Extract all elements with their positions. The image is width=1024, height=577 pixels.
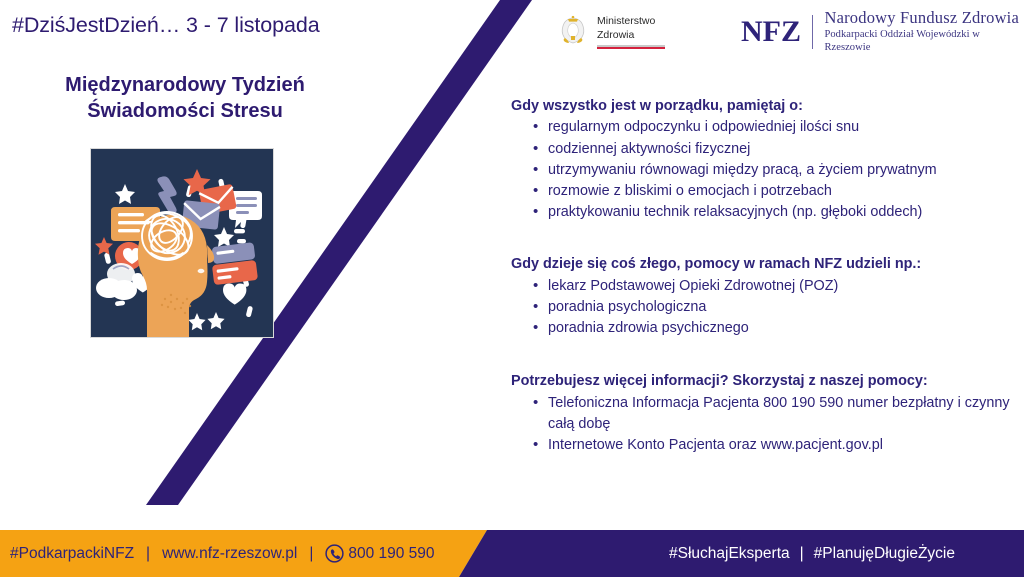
phone-circle-icon xyxy=(325,544,344,563)
footer-separator-3: | xyxy=(800,545,804,563)
polish-eagle-emblem xyxy=(556,14,590,50)
content-block-1: Gdy wszystko jest w porządku, pamiętaj o… xyxy=(511,96,1011,223)
footer-hashtag: #PodkarpackiNFZ xyxy=(10,545,134,563)
list-item: Internetowe Konto Pacjenta oraz www.pacj… xyxy=(533,435,1011,456)
nfz-logo-line-1: Narodowy Fundusz Zdrowia xyxy=(824,9,1024,28)
stressed-head-illustration xyxy=(90,148,274,338)
footer-website-link[interactable]: www.nfz-rzeszow.pl xyxy=(162,545,297,563)
footer-separator-2: | xyxy=(309,545,313,563)
footer-phone-group[interactable]: 800 190 590 xyxy=(325,544,434,563)
list-item: poradnia zdrowia psychicznego xyxy=(533,318,1011,339)
nfz-logo: NFZ Narodowy Fundusz Zdrowia Podkarpacki… xyxy=(741,9,1024,55)
event-title-line-1: Międzynarodowy Tydzień xyxy=(10,72,360,98)
main-content: Gdy wszystko jest w porządku, pamiętaj o… xyxy=(511,96,1011,472)
footer-phone-number: 800 190 590 xyxy=(348,545,434,563)
list-item: rozmowie z bliskimi o emocjach i potrzeb… xyxy=(533,181,1011,202)
footer-hashtag-planuje-dlugie-zycie: #PlanujęDługieŻycie xyxy=(814,545,955,563)
content-block-2: Gdy dzieje się coś złego, pomocy w ramac… xyxy=(511,254,1011,339)
list-item: codziennej aktywności fizycznej xyxy=(533,139,1011,160)
block-2-heading: Gdy dzieje się coś złego, pomocy w ramac… xyxy=(511,254,1011,274)
event-title-line-2: Świadomości Stresu xyxy=(10,98,360,124)
list-item: Telefoniczna Informacja Pacjenta 800 190… xyxy=(533,393,1011,435)
footer-separator-1: | xyxy=(146,545,150,563)
list-item: praktykowaniu technik relaksacyjnych (np… xyxy=(533,202,1011,223)
polish-flag-bar xyxy=(597,45,665,49)
block-2-list: lekarz Podstawowej Opieki Zdrowotnej (PO… xyxy=(511,276,1011,340)
ministry-of-health-logo: Ministerstwo Zdrowia xyxy=(556,14,665,50)
nfz-logo-line-2: Podkarpacki Oddział Wojewódzki w Rzeszow… xyxy=(824,28,1024,55)
list-item: regularnym odpoczynku i odpowiedniej ilo… xyxy=(533,117,1011,138)
list-item: poradnia psychologiczna xyxy=(533,297,1011,318)
nfz-wordmark: NFZ xyxy=(741,17,801,47)
block-3-heading: Potrzebujesz więcej informacji? Skorzyst… xyxy=(511,371,1011,391)
footer-right-group: #SłuchajEksperta | #PlanujęDługieŻycie xyxy=(600,530,1024,577)
logo-bar: Ministerstwo Zdrowia NFZ Narodowy Fundus… xyxy=(556,10,1024,54)
footer-left-group: #PodkarpackiNFZ | www.nfz-rzeszow.pl | 8… xyxy=(10,530,435,577)
block-3-list: Telefoniczna Informacja Pacjenta 800 190… xyxy=(511,393,1011,457)
ministry-logo-line-2: Zdrowia xyxy=(597,29,665,42)
list-item: lekarz Podstawowej Opieki Zdrowotnej (PO… xyxy=(533,276,1011,297)
hashtag-date-label: #DziśJestDzień… 3 - 7 listopada xyxy=(12,13,320,38)
nfz-logo-divider xyxy=(812,15,813,49)
slide-canvas: #DziśJestDzień… 3 - 7 listopada Międzyna… xyxy=(0,0,1024,577)
page-title: Międzynarodowy Tydzień Świadomości Stres… xyxy=(10,72,360,125)
footer-hashtag-sluchaj-eksperta: #SłuchajEksperta xyxy=(669,545,790,563)
block-1-heading: Gdy wszystko jest w porządku, pamiętaj o… xyxy=(511,96,1011,116)
content-block-3: Potrzebujesz więcej informacji? Skorzyst… xyxy=(511,371,1011,456)
ministry-logo-line-1: Ministerstwo xyxy=(597,15,665,28)
block-1-list: regularnym odpoczynku i odpowiedniej ilo… xyxy=(511,117,1011,223)
list-item: utrzymywaniu równowagi między pracą, a ż… xyxy=(533,160,1011,181)
